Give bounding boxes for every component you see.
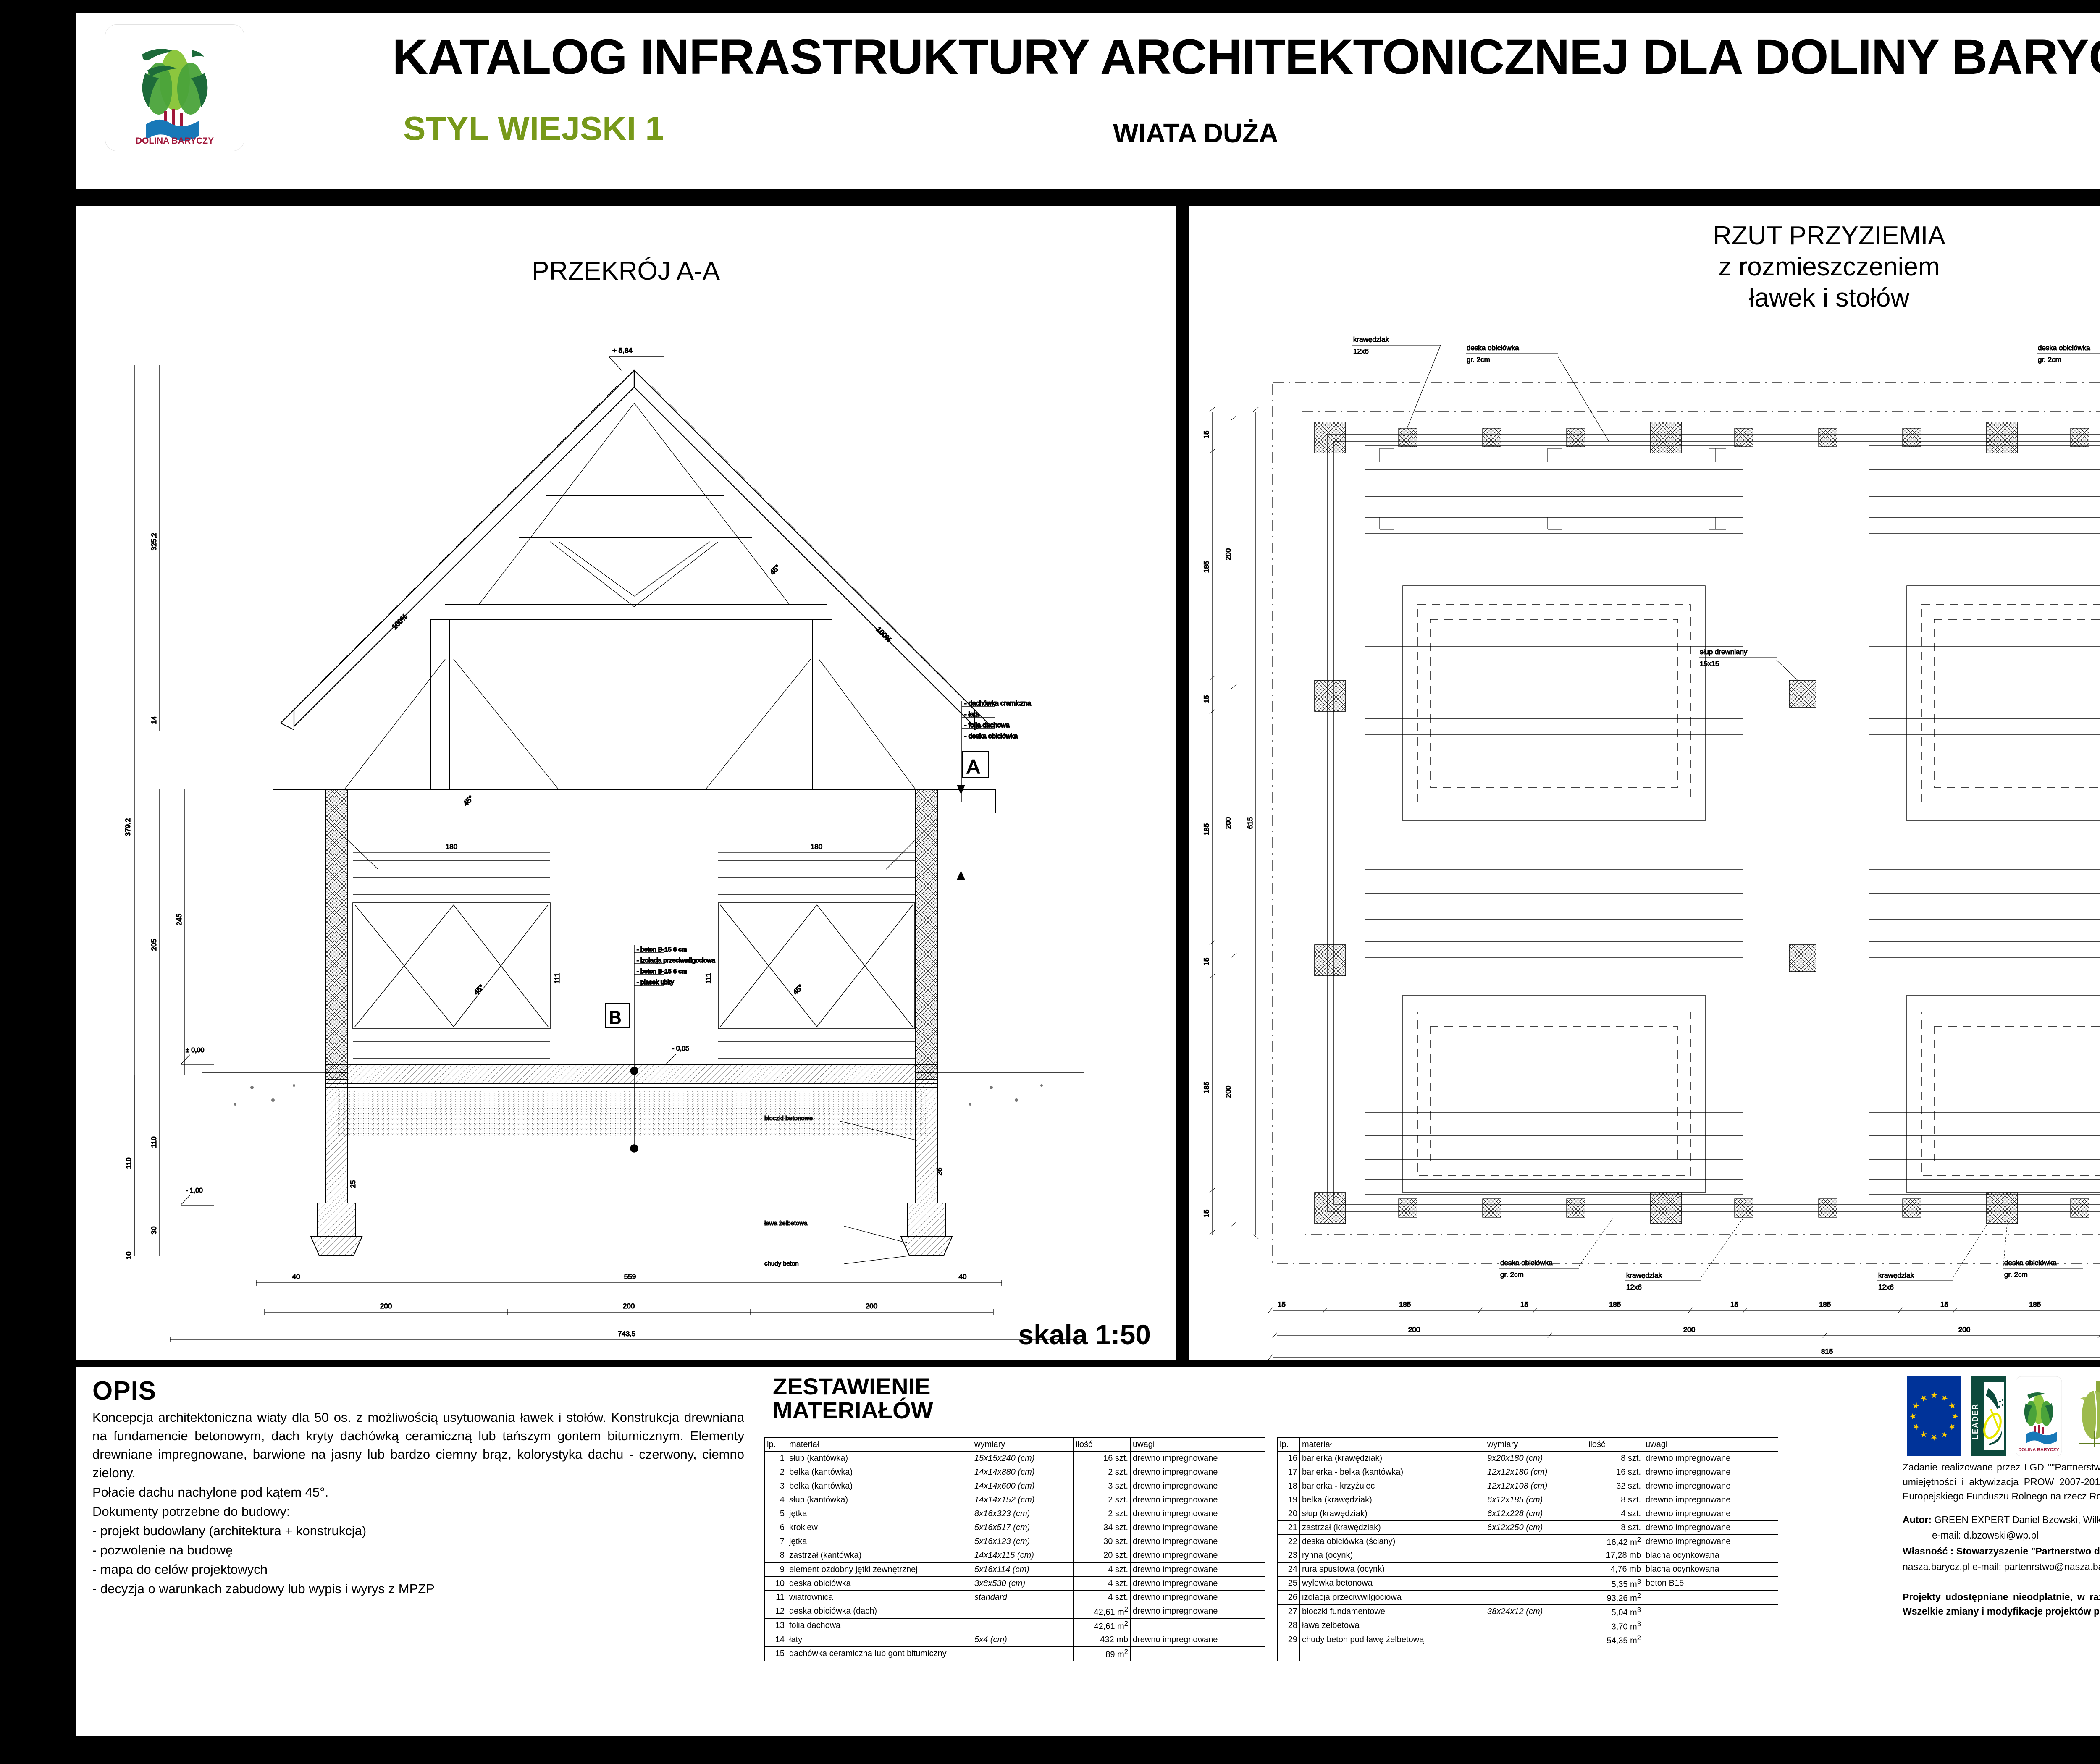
sheet-header: DOLINA BARYCZY KATALOG INFRASTRUKTURY AR… bbox=[76, 13, 2100, 189]
cell-wymiary bbox=[1485, 1633, 1586, 1647]
cell-lp: 20 bbox=[1278, 1507, 1300, 1521]
pdim-185-b: 185 bbox=[1609, 1300, 1621, 1308]
callout-bloczki: bloczki betonowe bbox=[764, 1115, 813, 1122]
style-label: STYL WIEJSKI 1 bbox=[403, 109, 664, 148]
cell-lp: 25 bbox=[1278, 1576, 1300, 1591]
pdim-v185-c: 185 bbox=[1202, 1082, 1210, 1093]
angle-roof: 45° bbox=[768, 563, 782, 577]
pdim-v15-d: 15 bbox=[1202, 1210, 1210, 1218]
cell-lp: 9 bbox=[765, 1563, 787, 1577]
cell-ilosc: 5,04 m3 bbox=[1586, 1604, 1643, 1619]
cell-material: element ozdobny jętki zewnętrznej bbox=[787, 1563, 972, 1577]
dolina-baryczy-logo: DOLINA BARYCZY bbox=[105, 24, 244, 151]
cell-wymiary bbox=[1485, 1591, 1586, 1605]
info-funding: Zadanie realizowane przez LGD ""Partners… bbox=[1903, 1460, 2100, 1504]
floor-layer-3: - piasek ubity bbox=[637, 979, 674, 986]
cell-uwagi: drewno impregnowane bbox=[1131, 1604, 1265, 1619]
opis-p1: Połacie dachu nachylone pod kątem 45°. bbox=[92, 1483, 744, 1502]
materials-block: ZESTAWIENIE MATERIAŁÓW lp. materiał wymi… bbox=[756, 1367, 1890, 1736]
cell-lp: 2 bbox=[765, 1465, 787, 1479]
angle-cross-right: 45° bbox=[791, 983, 805, 996]
pdim-v200-c: 200 bbox=[1224, 1086, 1232, 1098]
cell-material: krokiew bbox=[787, 1521, 972, 1535]
dim-245: 245 bbox=[175, 914, 183, 925]
cell-empty bbox=[1278, 1647, 1300, 1661]
floor-layer-0: - beton B-15 6 cm bbox=[637, 946, 687, 953]
cell-uwagi: drewno impregnowane bbox=[1643, 1479, 1778, 1493]
cell-uwagi: drewno impregnowane bbox=[1131, 1535, 1265, 1549]
cell-material: wylewka betonowa bbox=[1300, 1576, 1485, 1591]
cell-ilosc: 93,26 m2 bbox=[1586, 1591, 1643, 1605]
cell-lp: 21 bbox=[1278, 1521, 1300, 1535]
pdim-v15-b: 15 bbox=[1202, 695, 1210, 703]
cell-lp: 19 bbox=[1278, 1493, 1300, 1507]
dim-25-right: 25 bbox=[935, 1168, 943, 1176]
opis-p6: - decyzja o warunkach zabudowy lub wypis… bbox=[92, 1580, 744, 1598]
cell-lp: 12 bbox=[765, 1604, 787, 1619]
materials-table-left: lp. materiał wymiary ilość uwagi 1słup (… bbox=[764, 1437, 1265, 1661]
cell-lp: 7 bbox=[765, 1535, 787, 1549]
table-row: 19belka (krawędziak)6x12x185 (cm)8 szt.d… bbox=[1278, 1493, 1778, 1507]
cell-material: bloczki fundamentowe bbox=[1300, 1604, 1485, 1619]
cell-lp: 18 bbox=[1278, 1479, 1300, 1493]
table-row: 9element ozdobny jętki zewnętrznej5x16x1… bbox=[765, 1563, 1265, 1577]
opis-text: Koncepcja architektoniczna wiaty dla 50 … bbox=[92, 1408, 744, 1598]
dim-205: 205 bbox=[150, 939, 158, 951]
cell-uwagi bbox=[1643, 1604, 1778, 1619]
cell-wymiary: 14x14x600 (cm) bbox=[972, 1479, 1074, 1493]
cell-wymiary: 14x14x115 (cm) bbox=[972, 1549, 1074, 1562]
cell-material: rynna (ocynk) bbox=[1300, 1549, 1485, 1562]
cell-uwagi bbox=[1131, 1647, 1265, 1661]
cell-uwagi: drewno impregnowane bbox=[1131, 1591, 1265, 1604]
cell-ilosc: 4,76 mb bbox=[1586, 1562, 1643, 1576]
table-row: 8zastrzał (kantówka)14x14x115 (cm)20 szt… bbox=[765, 1549, 1265, 1562]
section-panel: PRZEKRÓJ A-A skala 1:50 + 5,84 bbox=[76, 206, 1176, 1360]
cell-wymiary: 5x16x517 (cm) bbox=[972, 1521, 1074, 1535]
angle-cross-left: 45° bbox=[472, 983, 486, 996]
callout-deska-bottom2-value: gr. 2cm bbox=[2004, 1271, 2028, 1279]
info-text: Zadanie realizowane przez LGD ""Partners… bbox=[1903, 1460, 2100, 1620]
cell-ilosc: 8 szt. bbox=[1586, 1521, 1643, 1535]
cell-material: zastrzał (krawędziak) bbox=[1300, 1521, 1485, 1535]
cell-uwagi: drewno impregnowane bbox=[1131, 1479, 1265, 1493]
pdim-v15-c: 15 bbox=[1202, 958, 1210, 966]
callout-slup-value-a: 15x15 bbox=[1700, 660, 1719, 668]
cell-material: barierka - belka (kantówka) bbox=[1300, 1465, 1485, 1479]
cell-material: belka (kantówka) bbox=[787, 1479, 972, 1493]
cell-material: łaty bbox=[787, 1633, 972, 1646]
table-row: 16barierka (krawędziak)9x20x180 (cm)8 sz… bbox=[1278, 1452, 1778, 1465]
opis-p0: Koncepcja architektoniczna wiaty dla 50 … bbox=[92, 1408, 744, 1482]
cell-material: belka (krawędziak) bbox=[1300, 1493, 1485, 1507]
cell-ilosc: 34 szt. bbox=[1074, 1521, 1131, 1535]
pdim-15-c: 15 bbox=[1730, 1300, 1738, 1308]
table-row: 6krokiew5x16x517 (cm)34 szt.drewno impre… bbox=[765, 1521, 1265, 1535]
cell-material: belka (kantówka) bbox=[787, 1465, 972, 1479]
cell-uwagi: drewno impregnowane bbox=[1643, 1465, 1778, 1479]
pdim-200-c: 200 bbox=[1958, 1326, 1970, 1334]
pdim-v185-b: 185 bbox=[1202, 823, 1210, 835]
cell-lp: 28 bbox=[1278, 1619, 1300, 1633]
cell-uwagi bbox=[1643, 1591, 1778, 1605]
pdim-v185-a: 185 bbox=[1202, 561, 1210, 573]
callout-krawedziak-value: 12x6 bbox=[1353, 347, 1369, 355]
cell-uwagi: drewno impregnowane bbox=[1643, 1521, 1778, 1535]
table-row: 1słup (kantówka)15x15x240 (cm)16 szt.dre… bbox=[765, 1452, 1265, 1465]
funding-logos: LEADER bbox=[1907, 1374, 2100, 1458]
roof-layer-2: - folia dachowa bbox=[964, 722, 1010, 729]
cell-material: rura spustowa (ocynk) bbox=[1300, 1562, 1485, 1576]
cell-ilosc: 2 szt. bbox=[1074, 1465, 1131, 1479]
cell-ilosc: 89 m2 bbox=[1074, 1647, 1131, 1661]
table-row: 23rynna (ocynk)17,28 mbblacha ocynkowana bbox=[1278, 1549, 1778, 1562]
level-minus005: - 0,05 bbox=[672, 1045, 689, 1052]
callout-deska-label-a: deska obiciówka bbox=[1467, 344, 1519, 352]
dim-110b: 110 bbox=[150, 1136, 158, 1148]
table-row: 13folia dachowa42,61 m2 bbox=[765, 1619, 1265, 1633]
dim-200-c: 200 bbox=[866, 1302, 877, 1310]
col-material: materiał bbox=[787, 1438, 972, 1452]
callout-deska-value-b: gr. 2cm bbox=[2038, 356, 2061, 364]
table-row: 25wylewka betonowa5,35 m3beton B15 bbox=[1278, 1576, 1778, 1591]
table-row: 28ława żelbetowa3,70 m3 bbox=[1278, 1619, 1778, 1633]
floor-layer-1: - izolacja przeciwwilgociowa bbox=[637, 957, 715, 964]
cell-lp: 23 bbox=[1278, 1549, 1300, 1562]
cell-material: barierka - krzyżulec bbox=[1300, 1479, 1485, 1493]
slope-left: 100% bbox=[390, 613, 409, 631]
cell-lp: 8 bbox=[765, 1549, 787, 1562]
table-row: 12deska obiciówka (dach)42,61 m2drewno i… bbox=[765, 1604, 1265, 1619]
cell-wymiary bbox=[972, 1604, 1074, 1619]
table-row: 18barierka - krzyżulec12x12x108 (cm)32 s… bbox=[1278, 1479, 1778, 1493]
cell-wymiary bbox=[972, 1647, 1074, 1661]
col-uwagi: uwagi bbox=[1643, 1438, 1778, 1452]
cell-lp: 1 bbox=[765, 1452, 787, 1465]
svg-text:DOLINA BARYCZY: DOLINA BARYCZY bbox=[136, 136, 214, 146]
table-row: 22deska obiciówka (ściany)16,42 m2drewno… bbox=[1278, 1535, 1778, 1549]
cell-wymiary: 12x12x108 (cm) bbox=[1485, 1479, 1586, 1493]
section-drawing: + 5,84 bbox=[76, 206, 1176, 1360]
sheet-title: KATALOG INFRASTRUKTURY ARCHITEKTONICZNEJ… bbox=[344, 29, 2100, 86]
cell-material: folia dachowa bbox=[787, 1619, 972, 1633]
cell-lp: 3 bbox=[765, 1479, 787, 1493]
cell-wymiary: 6x12x185 (cm) bbox=[1485, 1493, 1586, 1507]
cell-uwagi: drewno impregnowane bbox=[1131, 1521, 1265, 1535]
table-row: 15dachówka ceramiczna lub gont bitumiczn… bbox=[765, 1647, 1265, 1661]
cell-uwagi: drewno impregnowane bbox=[1131, 1452, 1265, 1465]
cell-ilosc: 5,35 m3 bbox=[1586, 1576, 1643, 1591]
svg-text:+ 5,84: + 5,84 bbox=[612, 346, 633, 354]
table-row: 26izolacja przeciwwilgociowa93,26 m2 bbox=[1278, 1591, 1778, 1605]
slope-right: 100% bbox=[874, 625, 893, 644]
dim-111-left: 111 bbox=[553, 973, 561, 984]
table-row: 7jętka5x16x123 (cm)30 szt.drewno impregn… bbox=[765, 1535, 1265, 1549]
cell-uwagi: drewno impregnowane bbox=[1643, 1493, 1778, 1507]
cell-ilosc: 16 szt. bbox=[1586, 1465, 1643, 1479]
col-wymiary: wymiary bbox=[972, 1438, 1074, 1452]
cell-lp: 13 bbox=[765, 1619, 787, 1633]
cell-wymiary: 3x8x530 (cm) bbox=[972, 1577, 1074, 1591]
cell-wymiary: 5x4 (cm) bbox=[972, 1633, 1074, 1646]
dim-30: 30 bbox=[150, 1227, 158, 1235]
cell-ilosc: 17,28 mb bbox=[1586, 1549, 1643, 1562]
table-row-blank bbox=[1278, 1647, 1778, 1661]
table-row: 20słup (krawędziak)6x12x228 (cm)4 szt.dr… bbox=[1278, 1507, 1778, 1521]
opis-p2: Dokumenty potrzebne do budowy: bbox=[92, 1502, 744, 1521]
cell-lp: 16 bbox=[1278, 1452, 1300, 1465]
cell-material: ława żelbetowa bbox=[1300, 1619, 1485, 1633]
pdim-185-d: 185 bbox=[2029, 1300, 2041, 1308]
cell-lp: 22 bbox=[1278, 1535, 1300, 1549]
cell-ilosc: 2 szt. bbox=[1074, 1493, 1131, 1507]
pdim-15-b: 15 bbox=[1520, 1300, 1528, 1308]
drawing-sheet: DOLINA BARYCZY KATALOG INFRASTRUKTURY AR… bbox=[0, 0, 2100, 1764]
cell-lp: 5 bbox=[765, 1507, 787, 1521]
cell-wymiary: 6x12x250 (cm) bbox=[1485, 1521, 1586, 1535]
cell-lp: 17 bbox=[1278, 1465, 1300, 1479]
table-row: 11wiatrownicastandard4 szt.drewno impreg… bbox=[765, 1591, 1265, 1604]
cell-material: barierka (krawędziak) bbox=[1300, 1452, 1485, 1465]
angle-brace-left: 45° bbox=[462, 794, 475, 807]
cell-ilosc: 432 mb bbox=[1074, 1633, 1131, 1646]
cell-wymiary bbox=[1485, 1549, 1586, 1562]
object-label: WIATA DUŻA bbox=[1113, 118, 1278, 149]
table-row: 4słup (kantówka)14x14x152 (cm)2 szt.drew… bbox=[765, 1493, 1265, 1507]
dim-40-right: 40 bbox=[959, 1273, 967, 1281]
cell-ilosc: 4 szt. bbox=[1074, 1563, 1131, 1577]
col-lp: lp. bbox=[1278, 1438, 1300, 1452]
partnerstwo-logo: PARTNERSTWO DLA DOLINY BARYCZY bbox=[2071, 1376, 2100, 1456]
bottom-band: OPIS Koncepcja architektoniczna wiaty dl… bbox=[76, 1367, 2100, 1736]
callout-deska-bottom-label: deska obiciówka bbox=[1500, 1259, 1553, 1267]
level-minus100: - 1,00 bbox=[186, 1187, 203, 1194]
pdim-185-c: 185 bbox=[1819, 1300, 1831, 1308]
cell-wymiary: 12x12x180 (cm) bbox=[1485, 1465, 1586, 1479]
cell-ilosc: 32 szt. bbox=[1586, 1479, 1643, 1493]
cell-ilosc: 8 szt. bbox=[1586, 1452, 1643, 1465]
plan-panel: RZUT PRZYZIEMIA z rozmieszczeniem ławek … bbox=[1189, 206, 2100, 1360]
cell-ilosc: 20 szt. bbox=[1074, 1549, 1131, 1562]
dim-200-a: 200 bbox=[380, 1302, 392, 1310]
leader-logo: LEADER bbox=[1971, 1376, 2006, 1456]
opis-heading: OPIS bbox=[92, 1376, 756, 1406]
dim-14: 14 bbox=[150, 716, 158, 724]
cell-uwagi: drewno impregnowane bbox=[1131, 1465, 1265, 1479]
cell-ilosc: 4 szt. bbox=[1074, 1577, 1131, 1591]
col-material: materiał bbox=[1300, 1438, 1485, 1452]
cell-ilosc: 42,61 m2 bbox=[1074, 1619, 1131, 1633]
cell-wymiary bbox=[1485, 1619, 1586, 1633]
level-zero: ± 0,00 bbox=[186, 1047, 204, 1054]
pdim-v200-b: 200 bbox=[1224, 817, 1232, 829]
materials-table-right: lp. materiał wymiary ilość uwagi 16barie… bbox=[1277, 1437, 1778, 1661]
cell-material: deska obiciówka (dach) bbox=[787, 1604, 972, 1619]
info-autor-value: GREEN EXPERT Daniel Bzowski, Wilków Wiel… bbox=[1934, 1514, 2100, 1525]
info-wlasnosc-contact: nasza.barycz.pl e-mail: partenrstwo@nasz… bbox=[1903, 1560, 2100, 1574]
pdim-815: 815 bbox=[1821, 1347, 1833, 1355]
cell-uwagi: drewno impregnowane bbox=[1643, 1535, 1778, 1549]
opis-block: OPIS Koncepcja architektoniczna wiaty dl… bbox=[76, 1367, 756, 1736]
dolina-baryczy-logo-small: DOLINA BARYCZY bbox=[2016, 1376, 2062, 1456]
cell-wymiary: 5x16x114 (cm) bbox=[972, 1563, 1074, 1577]
cell-uwagi: drewno impregnowane bbox=[1131, 1633, 1265, 1646]
table-header-row: lp. materiał wymiary ilość uwagi bbox=[765, 1438, 1265, 1452]
pdim-185-a: 185 bbox=[1399, 1300, 1411, 1308]
callout-lawa: ława żelbetowa bbox=[764, 1220, 808, 1227]
cell-ilosc: 16 szt. bbox=[1074, 1452, 1131, 1465]
table-row: 27bloczki fundamentowe38x24x12 (cm)5,04 … bbox=[1278, 1604, 1778, 1619]
cell-uwagi: drewno impregnowane bbox=[1131, 1507, 1265, 1521]
cell-uwagi bbox=[1643, 1633, 1778, 1647]
roof-layer-0: - dachówka cramiczna bbox=[964, 700, 1031, 707]
col-uwagi: uwagi bbox=[1131, 1438, 1265, 1452]
cell-ilosc: 4 szt. bbox=[1586, 1507, 1643, 1521]
leader-logo-text: LEADER bbox=[1971, 1403, 1979, 1439]
info-block: LEADER bbox=[1890, 1367, 2100, 1736]
materials-heading: ZESTAWIENIE MATERIAŁÓW bbox=[773, 1374, 1890, 1422]
opis-p4: - pozwolenie na budowę bbox=[92, 1541, 744, 1560]
dim-200-b: 200 bbox=[623, 1302, 635, 1310]
callout-kraw-bottom-label: krawędziak bbox=[1626, 1271, 1662, 1279]
materials-heading-line2: MATERIAŁÓW bbox=[773, 1398, 1890, 1422]
cell-empty bbox=[1485, 1647, 1586, 1661]
dim-180-left: 180 bbox=[446, 843, 457, 851]
cell-lp: 24 bbox=[1278, 1562, 1300, 1576]
cell-lp: 15 bbox=[765, 1647, 787, 1661]
pdim-15-d: 15 bbox=[1940, 1300, 1948, 1308]
col-ilosc: ilość bbox=[1586, 1438, 1643, 1452]
col-lp: lp. bbox=[765, 1438, 787, 1452]
eu-flag-logo bbox=[1907, 1376, 1961, 1456]
table-header-row: lp. materiał wymiary ilość uwagi bbox=[1278, 1438, 1778, 1452]
cell-wymiary: standard bbox=[972, 1591, 1074, 1604]
cell-lp: 29 bbox=[1278, 1633, 1300, 1647]
roof-layer-3: - deska obiciówka bbox=[964, 733, 1018, 740]
cell-lp: 10 bbox=[765, 1577, 787, 1591]
cell-uwagi: drewno impregnowane bbox=[1131, 1549, 1265, 1562]
cell-uwagi: drewno impregnowane bbox=[1131, 1493, 1265, 1507]
cell-wymiary: 5x16x123 (cm) bbox=[972, 1535, 1074, 1549]
cell-lp: 11 bbox=[765, 1591, 787, 1604]
pdim-v200-a: 200 bbox=[1224, 548, 1232, 560]
table-row: 21zastrzał (krawędziak)6x12x250 (cm)8 sz… bbox=[1278, 1521, 1778, 1535]
cell-material: deska obiciówka (ściany) bbox=[1300, 1535, 1485, 1549]
cell-wymiary bbox=[1485, 1576, 1586, 1591]
materials-tbody-left: 1słup (kantówka)15x15x240 (cm)16 szt.dre… bbox=[765, 1452, 1265, 1661]
roof-layer-1: - łata bbox=[964, 711, 979, 718]
opis-p5: - mapa do celów projektowych bbox=[92, 1560, 744, 1579]
materials-heading-line1: ZESTAWIENIE bbox=[773, 1374, 1890, 1398]
cell-ilosc: 2 szt. bbox=[1074, 1507, 1131, 1521]
callout-deska-value-a: gr. 2cm bbox=[1467, 356, 1490, 364]
cell-material: słup (kantówka) bbox=[787, 1452, 972, 1465]
cell-material: słup (kantówka) bbox=[787, 1493, 972, 1507]
cell-uwagi: drewno impregnowane bbox=[1131, 1577, 1265, 1591]
cell-material: jętka bbox=[787, 1507, 972, 1521]
cell-wymiary: 6x12x228 (cm) bbox=[1485, 1507, 1586, 1521]
info-autor-label: Autor: bbox=[1903, 1514, 1932, 1525]
cell-wymiary bbox=[972, 1619, 1074, 1633]
cell-ilosc: 42,61 m2 bbox=[1074, 1604, 1131, 1619]
cell-wymiary: 9x20x180 (cm) bbox=[1485, 1452, 1586, 1465]
cell-ilosc: 3,70 m3 bbox=[1586, 1619, 1643, 1633]
cell-lp: 26 bbox=[1278, 1591, 1300, 1605]
cell-ilosc: 16,42 m2 bbox=[1586, 1535, 1643, 1549]
cell-uwagi: drewno impregnowane bbox=[1131, 1563, 1265, 1577]
dim-559: 559 bbox=[624, 1273, 636, 1281]
cell-wymiary: 38x24x12 (cm) bbox=[1485, 1604, 1586, 1619]
table-row: 2belka (kantówka)14x14x880 (cm)2 szt.dre… bbox=[765, 1465, 1265, 1479]
floor-layer-2: - beton B-15 6 cm bbox=[637, 968, 687, 975]
cell-ilosc: 8 szt. bbox=[1586, 1493, 1643, 1507]
callout-kraw-bottom2-label: krawędziak bbox=[1878, 1271, 1914, 1279]
cell-lp: 4 bbox=[765, 1493, 787, 1507]
cell-empty bbox=[1643, 1647, 1778, 1661]
info-wlasnosc: Własność : Stowarzyszenie "Partnerstwo d… bbox=[1903, 1544, 2100, 1559]
cell-wymiary: 14x14x152 (cm) bbox=[972, 1493, 1074, 1507]
dim-3252: 325,2 bbox=[150, 533, 158, 551]
cell-empty bbox=[1586, 1647, 1643, 1661]
pdim-615: 615 bbox=[1246, 817, 1254, 829]
cell-ilosc: 30 szt. bbox=[1074, 1535, 1131, 1549]
callout-slup-label-a: słup drewniany bbox=[1700, 648, 1748, 656]
cell-lp: 6 bbox=[765, 1521, 787, 1535]
opis-p3: - projekt budowlany (architektura + kons… bbox=[92, 1522, 744, 1540]
cell-wymiary bbox=[1485, 1562, 1586, 1576]
col-ilosc: ilość bbox=[1074, 1438, 1131, 1452]
cell-material: zastrzał (kantówka) bbox=[787, 1549, 972, 1562]
dim-111-right: 111 bbox=[704, 973, 712, 984]
materials-tbody-right: 16barierka (krawędziak)9x20x180 (cm)8 sz… bbox=[1278, 1452, 1778, 1661]
pdim-200-b: 200 bbox=[1683, 1326, 1695, 1334]
cell-material: izolacja przeciwwilgociowa bbox=[1300, 1591, 1485, 1605]
cell-lp: 14 bbox=[765, 1633, 787, 1646]
cell-material: deska obiciówka bbox=[787, 1577, 972, 1591]
cell-uwagi bbox=[1131, 1619, 1265, 1633]
dim-110a: 110 bbox=[125, 1157, 133, 1169]
callout-kraw-bottom2-value: 12x6 bbox=[1878, 1283, 1894, 1291]
cell-uwagi bbox=[1643, 1619, 1778, 1633]
cell-empty bbox=[1300, 1647, 1485, 1661]
cell-material: słup (krawędziak) bbox=[1300, 1507, 1485, 1521]
dim-10: 10 bbox=[125, 1252, 133, 1260]
dim-40-left: 40 bbox=[292, 1273, 300, 1281]
table-row: 29chudy beton pod ławę żelbetową54,35 m2 bbox=[1278, 1633, 1778, 1647]
cell-uwagi: drewno impregnowane bbox=[1643, 1507, 1778, 1521]
cell-wymiary: 8x16x323 (cm) bbox=[972, 1507, 1074, 1521]
cell-material: jętka bbox=[787, 1535, 972, 1549]
cell-lp: 27 bbox=[1278, 1604, 1300, 1619]
callout-krawedziak-label: krawędziak bbox=[1353, 336, 1389, 343]
cell-uwagi: beton B15 bbox=[1643, 1576, 1778, 1591]
info-autor: Autor: GREEN EXPERT Daniel Bzowski, Wilk… bbox=[1903, 1512, 2100, 1527]
dim-3792: 379,2 bbox=[124, 818, 132, 836]
cell-uwagi: drewno impregnowane bbox=[1643, 1452, 1778, 1465]
cell-wymiary: 15x15x240 (cm) bbox=[972, 1452, 1074, 1465]
cell-wymiary: 14x14x880 (cm) bbox=[972, 1465, 1074, 1479]
callout-deska-label-b: deska obiciówka bbox=[2038, 344, 2090, 352]
callout-kraw-bottom-value: 12x6 bbox=[1626, 1283, 1642, 1291]
cell-material: wiatrownica bbox=[787, 1591, 972, 1604]
pdim-v15-a: 15 bbox=[1202, 431, 1210, 439]
cell-material: chudy beton pod ławę żelbetową bbox=[1300, 1633, 1485, 1647]
section-mark-B: B bbox=[609, 1007, 621, 1028]
cell-uwagi: blacha ocynkowana bbox=[1643, 1562, 1778, 1576]
pdim-15-a: 15 bbox=[1278, 1300, 1286, 1308]
table-row: 24rura spustowa (ocynk)4,76 mbblacha ocy… bbox=[1278, 1562, 1778, 1576]
table-row: 17barierka - belka (kantówka)12x12x180 (… bbox=[1278, 1465, 1778, 1479]
